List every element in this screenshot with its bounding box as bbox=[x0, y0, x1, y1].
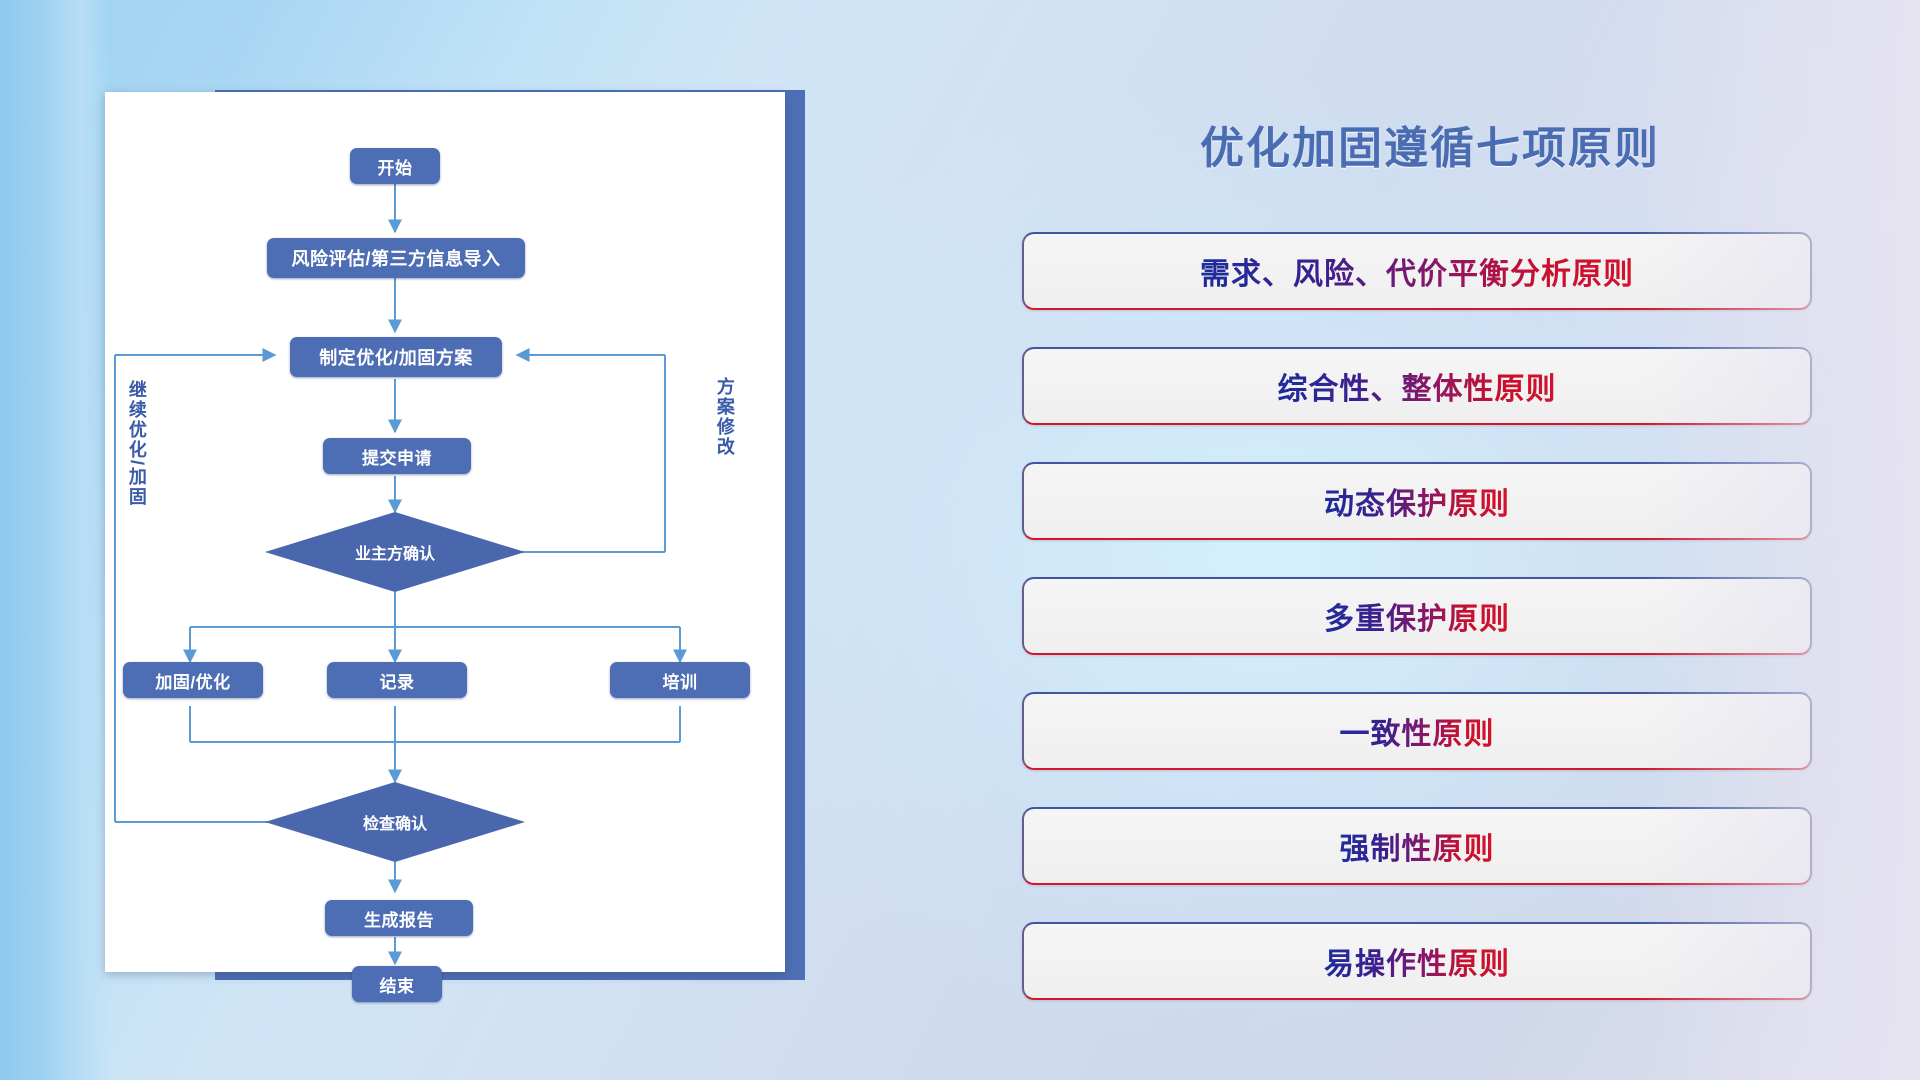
flowchart: 开始 风险评估/第三方信息导入 制定优化/加固方案 提交申请 业主方确认 加固/… bbox=[105, 92, 785, 972]
principle-item-label: 易操作性原则 bbox=[1324, 939, 1510, 983]
flow-node-submit-application-label: 提交申请 bbox=[362, 444, 432, 469]
principle-item[interactable]: 一致性原则 bbox=[1022, 692, 1812, 770]
principle-item[interactable]: 动态保护原则 bbox=[1022, 462, 1812, 540]
flow-edge-label-right-loop: 方案修改 bbox=[715, 377, 734, 457]
slide-background: 开始 风险评估/第三方信息导入 制定优化/加固方案 提交申请 业主方确认 加固/… bbox=[0, 0, 1920, 1080]
flow-decision-check-confirm[interactable]: 检查确认 bbox=[265, 782, 525, 862]
flow-node-make-plan[interactable]: 制定优化/加固方案 bbox=[290, 337, 502, 377]
flow-node-start[interactable]: 开始 bbox=[350, 148, 440, 184]
flow-node-make-plan-label: 制定优化/加固方案 bbox=[319, 344, 473, 370]
flow-node-start-label: 开始 bbox=[378, 154, 413, 179]
principle-item[interactable]: 易操作性原则 bbox=[1022, 922, 1812, 1000]
principle-item-label: 动态保护原则 bbox=[1324, 479, 1510, 523]
flow-node-generate-report-label: 生成报告 bbox=[364, 906, 434, 931]
principle-item-label: 一致性原则 bbox=[1340, 709, 1495, 753]
principle-item-label: 强制性原则 bbox=[1340, 824, 1495, 868]
principle-item[interactable]: 强制性原则 bbox=[1022, 807, 1812, 885]
flow-decision-check-confirm-label: 检查确认 bbox=[363, 810, 427, 834]
principle-item[interactable]: 多重保护原则 bbox=[1022, 577, 1812, 655]
principle-item-label: 多重保护原则 bbox=[1324, 594, 1510, 638]
flow-node-risk-assessment-label: 风险评估/第三方信息导入 bbox=[292, 245, 501, 271]
flow-node-training[interactable]: 培训 bbox=[610, 662, 750, 698]
flow-node-reinforce-optimize-label: 加固/优化 bbox=[155, 668, 230, 693]
flow-node-record-label: 记录 bbox=[380, 668, 415, 693]
flow-edge-label-left-loop: 继续优化/加固 bbox=[127, 380, 146, 507]
flow-node-reinforce-optimize[interactable]: 加固/优化 bbox=[123, 662, 263, 698]
flow-node-generate-report[interactable]: 生成报告 bbox=[325, 900, 473, 936]
principles-panel-title: 优化加固遵循七项原则 bbox=[1150, 112, 1710, 176]
flow-decision-owner-confirm-label: 业主方确认 bbox=[355, 540, 435, 564]
flowchart-card: 开始 风险评估/第三方信息导入 制定优化/加固方案 提交申请 业主方确认 加固/… bbox=[105, 92, 785, 972]
flow-node-end[interactable]: 结束 bbox=[352, 966, 442, 1002]
principles-list: 需求、风险、代价平衡分析原则 综合性、整体性原则 动态保护原则 多重保护原则 一… bbox=[1022, 232, 1812, 1037]
principle-item[interactable]: 需求、风险、代价平衡分析原则 bbox=[1022, 232, 1812, 310]
flow-decision-owner-confirm[interactable]: 业主方确认 bbox=[265, 512, 525, 592]
principle-item[interactable]: 综合性、整体性原则 bbox=[1022, 347, 1812, 425]
principle-item-label: 需求、风险、代价平衡分析原则 bbox=[1200, 249, 1634, 293]
flow-node-end-label: 结束 bbox=[380, 972, 415, 997]
flow-node-risk-assessment[interactable]: 风险评估/第三方信息导入 bbox=[267, 238, 525, 278]
flow-node-training-label: 培训 bbox=[663, 668, 698, 693]
flow-node-submit-application[interactable]: 提交申请 bbox=[323, 438, 471, 474]
principle-item-label: 综合性、整体性原则 bbox=[1278, 364, 1557, 408]
flow-node-record[interactable]: 记录 bbox=[327, 662, 467, 698]
